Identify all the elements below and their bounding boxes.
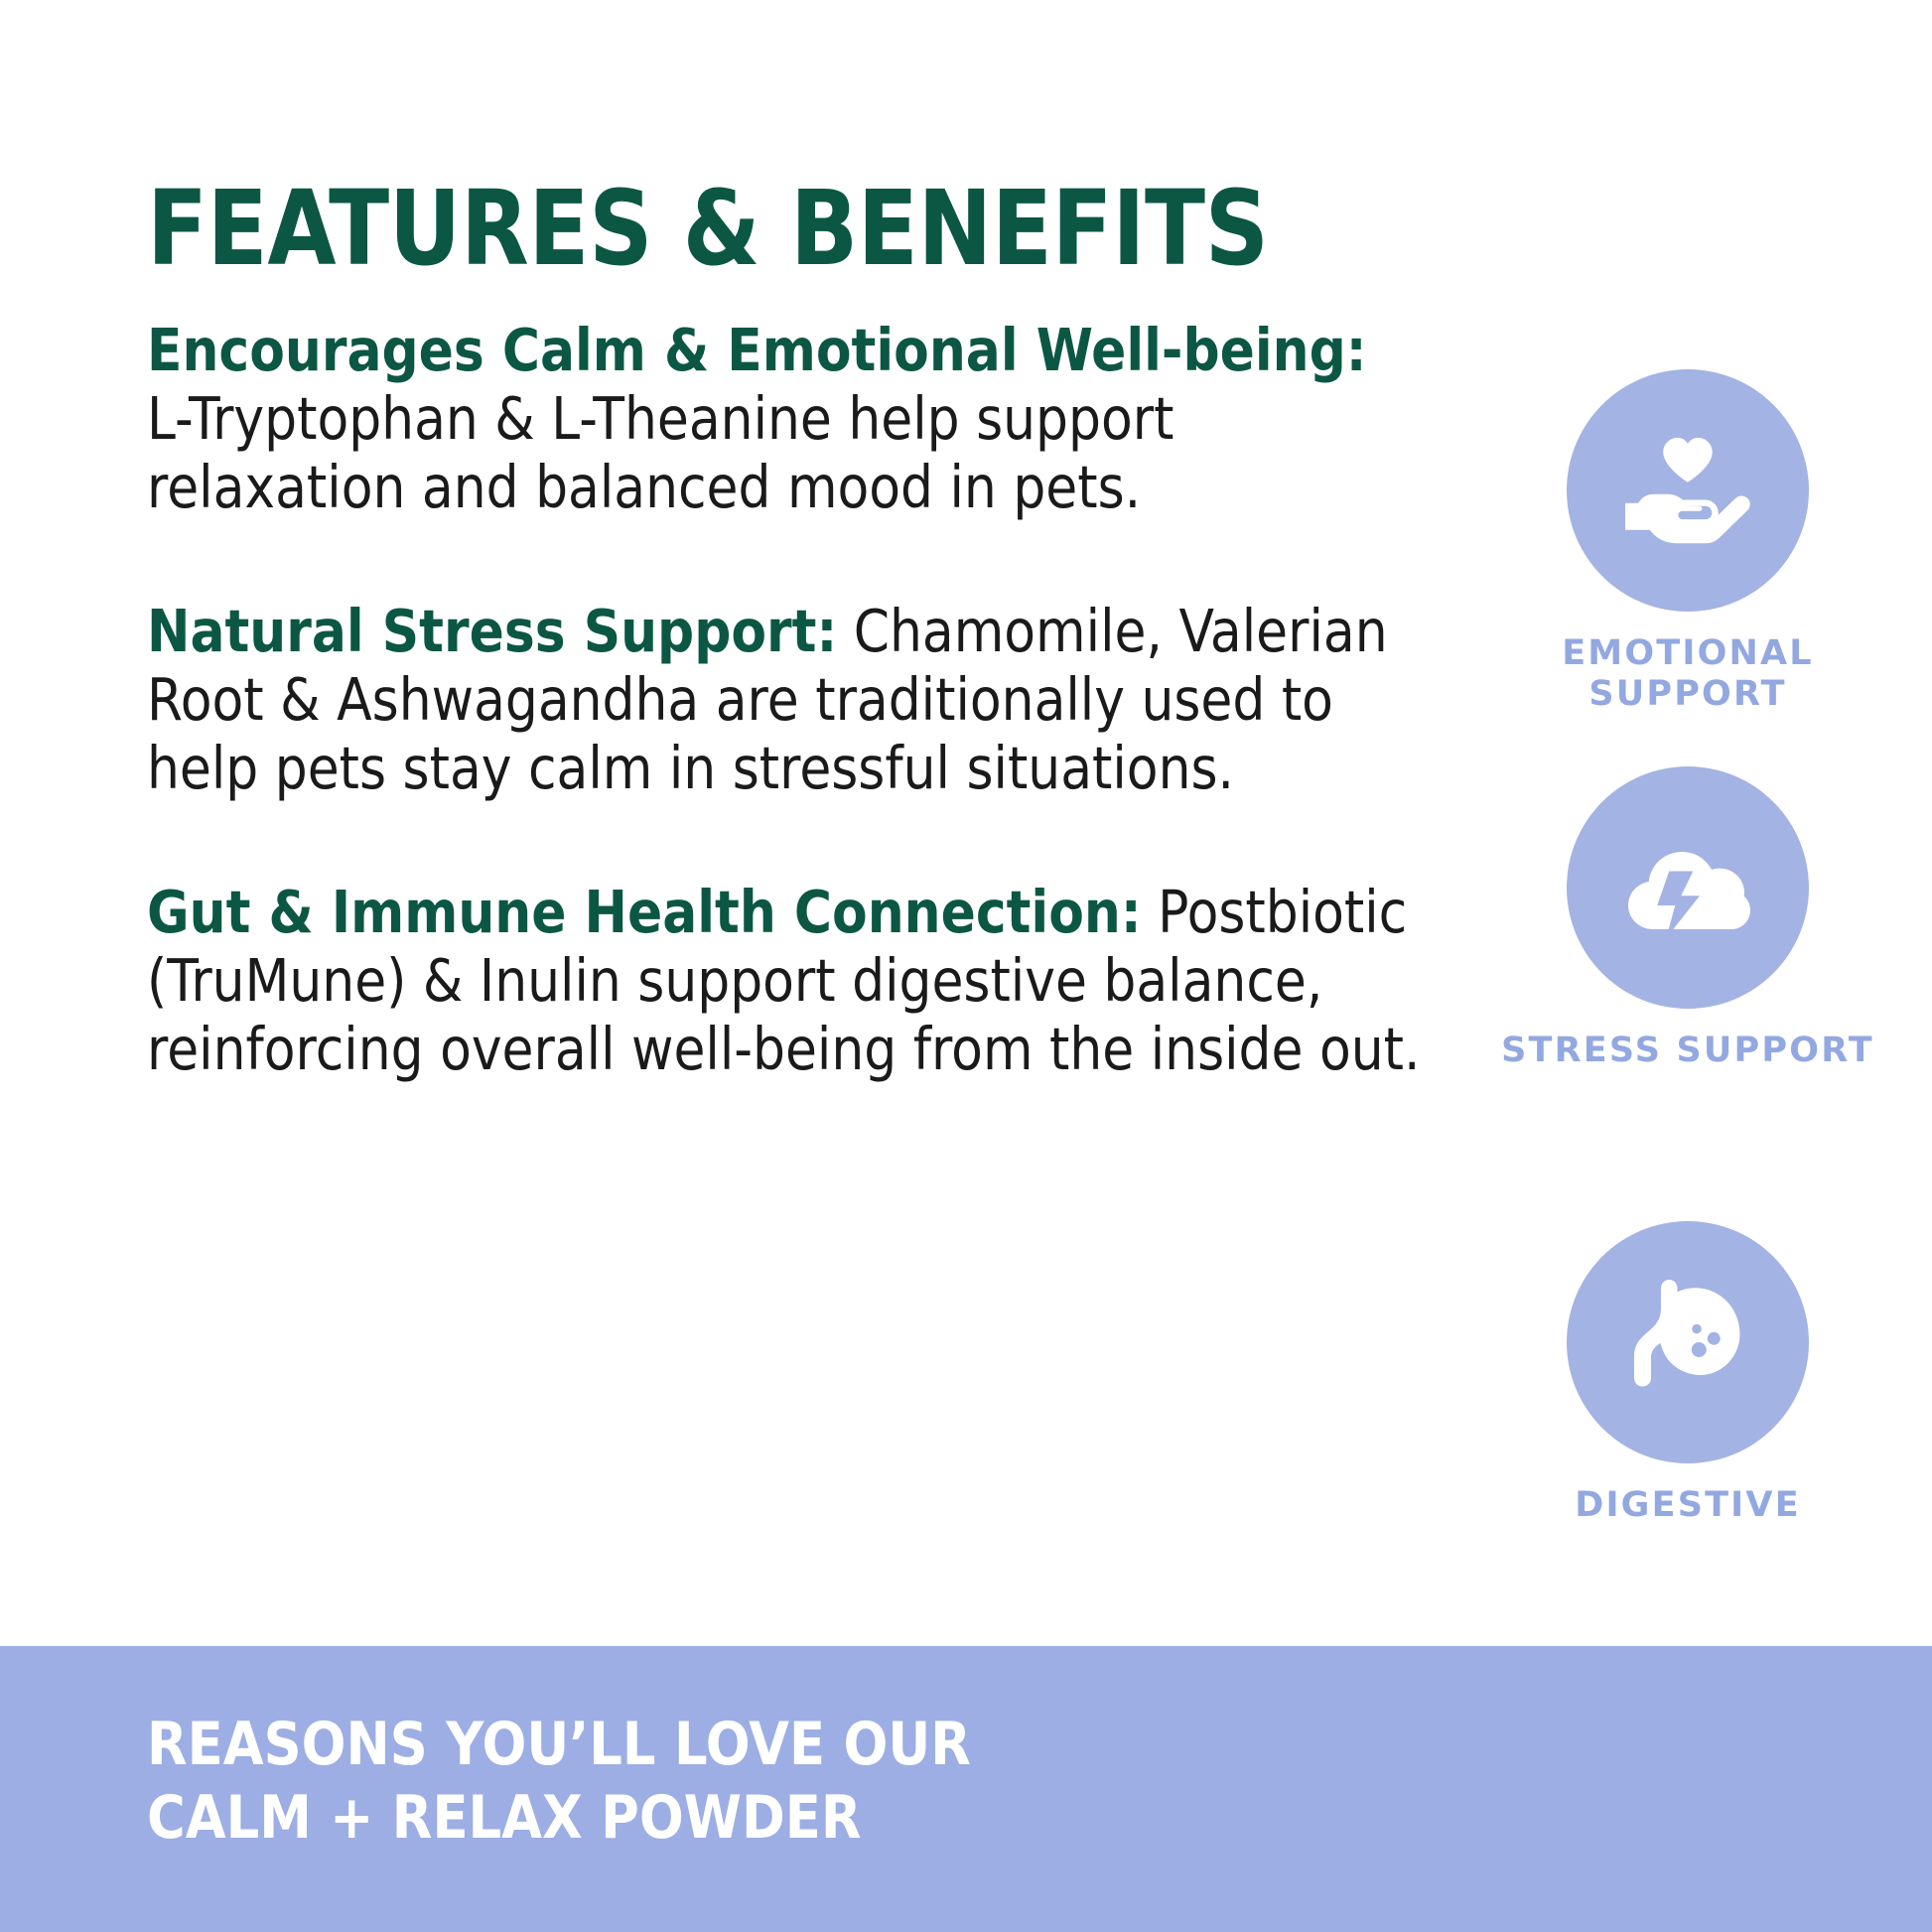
benefit-item: Natural Stress Support: Chamomile, Valer… (147, 597, 1428, 802)
hand-holding-heart-icon (1613, 416, 1762, 565)
bottom-banner: REASONS YOU’LL LOVE OUR CALM + RELAX POW… (0, 1646, 1932, 1932)
icon-label: STRESS SUPPORT (1479, 1031, 1896, 1071)
benefit-body: L-Tryptophan & L-Theanine help support r… (147, 384, 1173, 521)
badge-circle (1567, 369, 1809, 612)
banner-heading: REASONS YOU’LL LOVE OUR CALM + RELAX POW… (147, 1708, 971, 1856)
page-title: FEATURES & BENEFITS (147, 177, 1269, 280)
infographic-page: FEATURES & BENEFITS Encourages Calm & Em… (0, 0, 1932, 1932)
storm-cloud-lightning-icon (1613, 813, 1762, 962)
benefit-lead: Natural Stress Support: (147, 597, 837, 665)
benefits-list: Encourages Calm & Emotional Well-being: … (147, 316, 1428, 1083)
icon-badge-emotional-support: EMOTIONAL SUPPORT (1479, 369, 1896, 715)
badge-circle (1567, 1221, 1809, 1463)
benefit-item: Encourages Calm & Emotional Well-being: … (147, 316, 1428, 521)
icon-label: DIGESTIVE (1479, 1485, 1896, 1526)
icon-badge-stress-support: STRESS SUPPORT (1479, 766, 1896, 1071)
icon-badge-digestive: DIGESTIVE (1479, 1221, 1896, 1526)
badge-circle (1567, 766, 1809, 1009)
benefit-item: Gut & Immune Health Connection: Postbiot… (147, 878, 1428, 1083)
benefit-lead: Encourages Calm & Emotional Well-being: (147, 316, 1367, 384)
stomach-icon (1613, 1268, 1762, 1417)
icon-label: EMOTIONAL SUPPORT (1479, 633, 1896, 715)
benefit-lead: Gut & Immune Health Connection: (147, 878, 1142, 946)
